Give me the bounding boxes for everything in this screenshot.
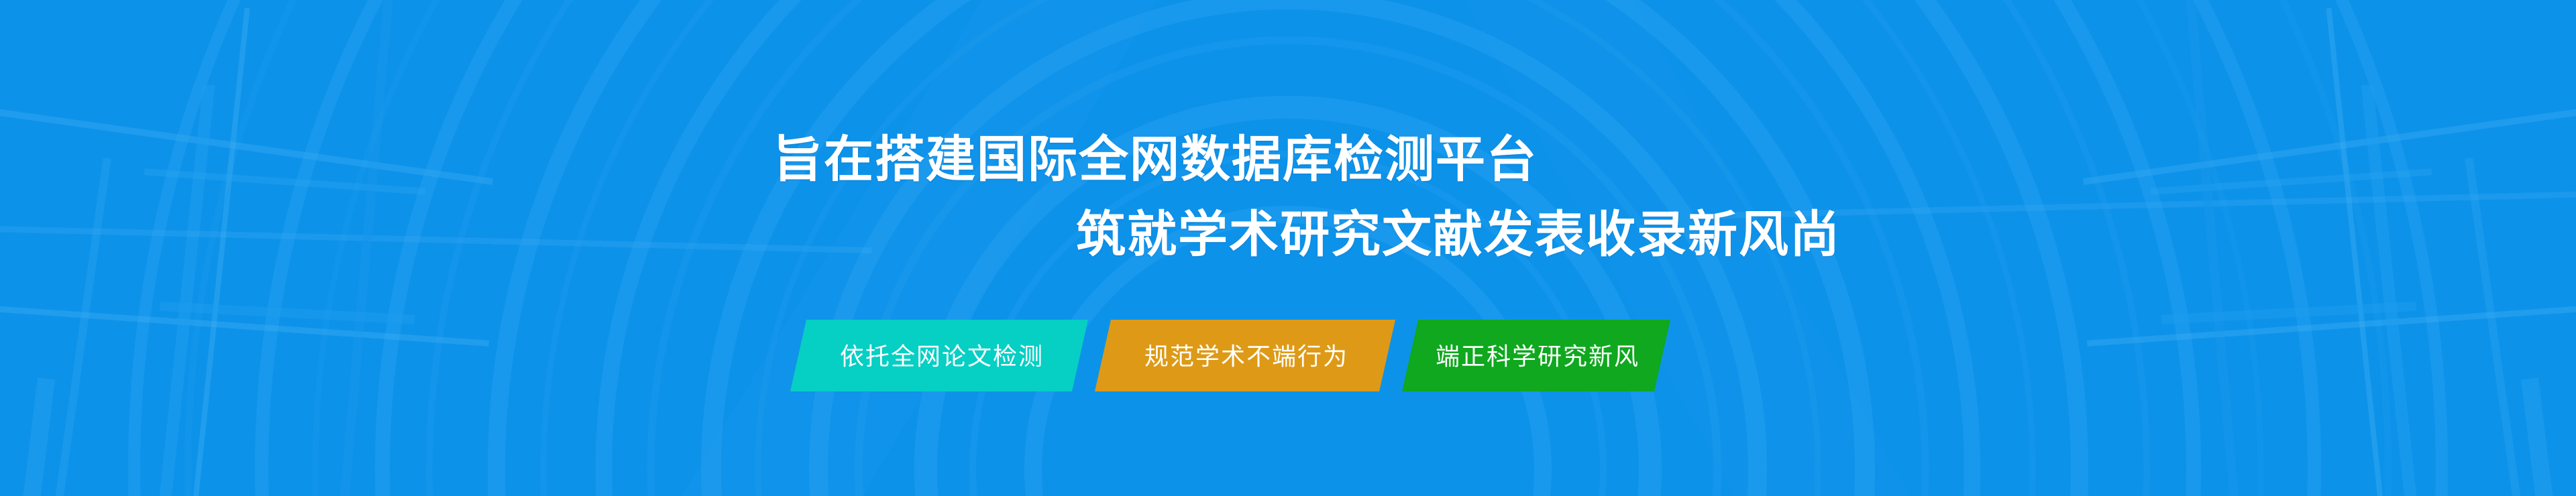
- feature-badge-3[interactable]: 端正科学研究新风: [1402, 320, 1670, 391]
- headline-block: 旨在搭建国际全网数据库检测平台 筑就学术研究文献发表收录新风尚: [0, 122, 2576, 272]
- feature-badge-2-label: 规范学术不端行为: [1144, 337, 1348, 372]
- feature-badge-group: 依托全网论文检测 规范学术不端行为 端正科学研究新风: [790, 320, 1670, 391]
- feature-badge-3-label: 端正科学研究新风: [1436, 337, 1640, 372]
- headline-line-2: 筑就学术研究文献发表收录新风尚: [0, 197, 2576, 272]
- feature-badge-2[interactable]: 规范学术不端行为: [1095, 320, 1395, 391]
- promo-banner: 旨在搭建国际全网数据库检测平台 筑就学术研究文献发表收录新风尚 依托全网论文检测…: [0, 0, 2576, 496]
- feature-badge-1[interactable]: 依托全网论文检测: [790, 320, 1088, 391]
- headline-line-1: 旨在搭建国际全网数据库检测平台: [0, 122, 2576, 197]
- feature-badge-1-label: 依托全网论文检测: [840, 337, 1044, 372]
